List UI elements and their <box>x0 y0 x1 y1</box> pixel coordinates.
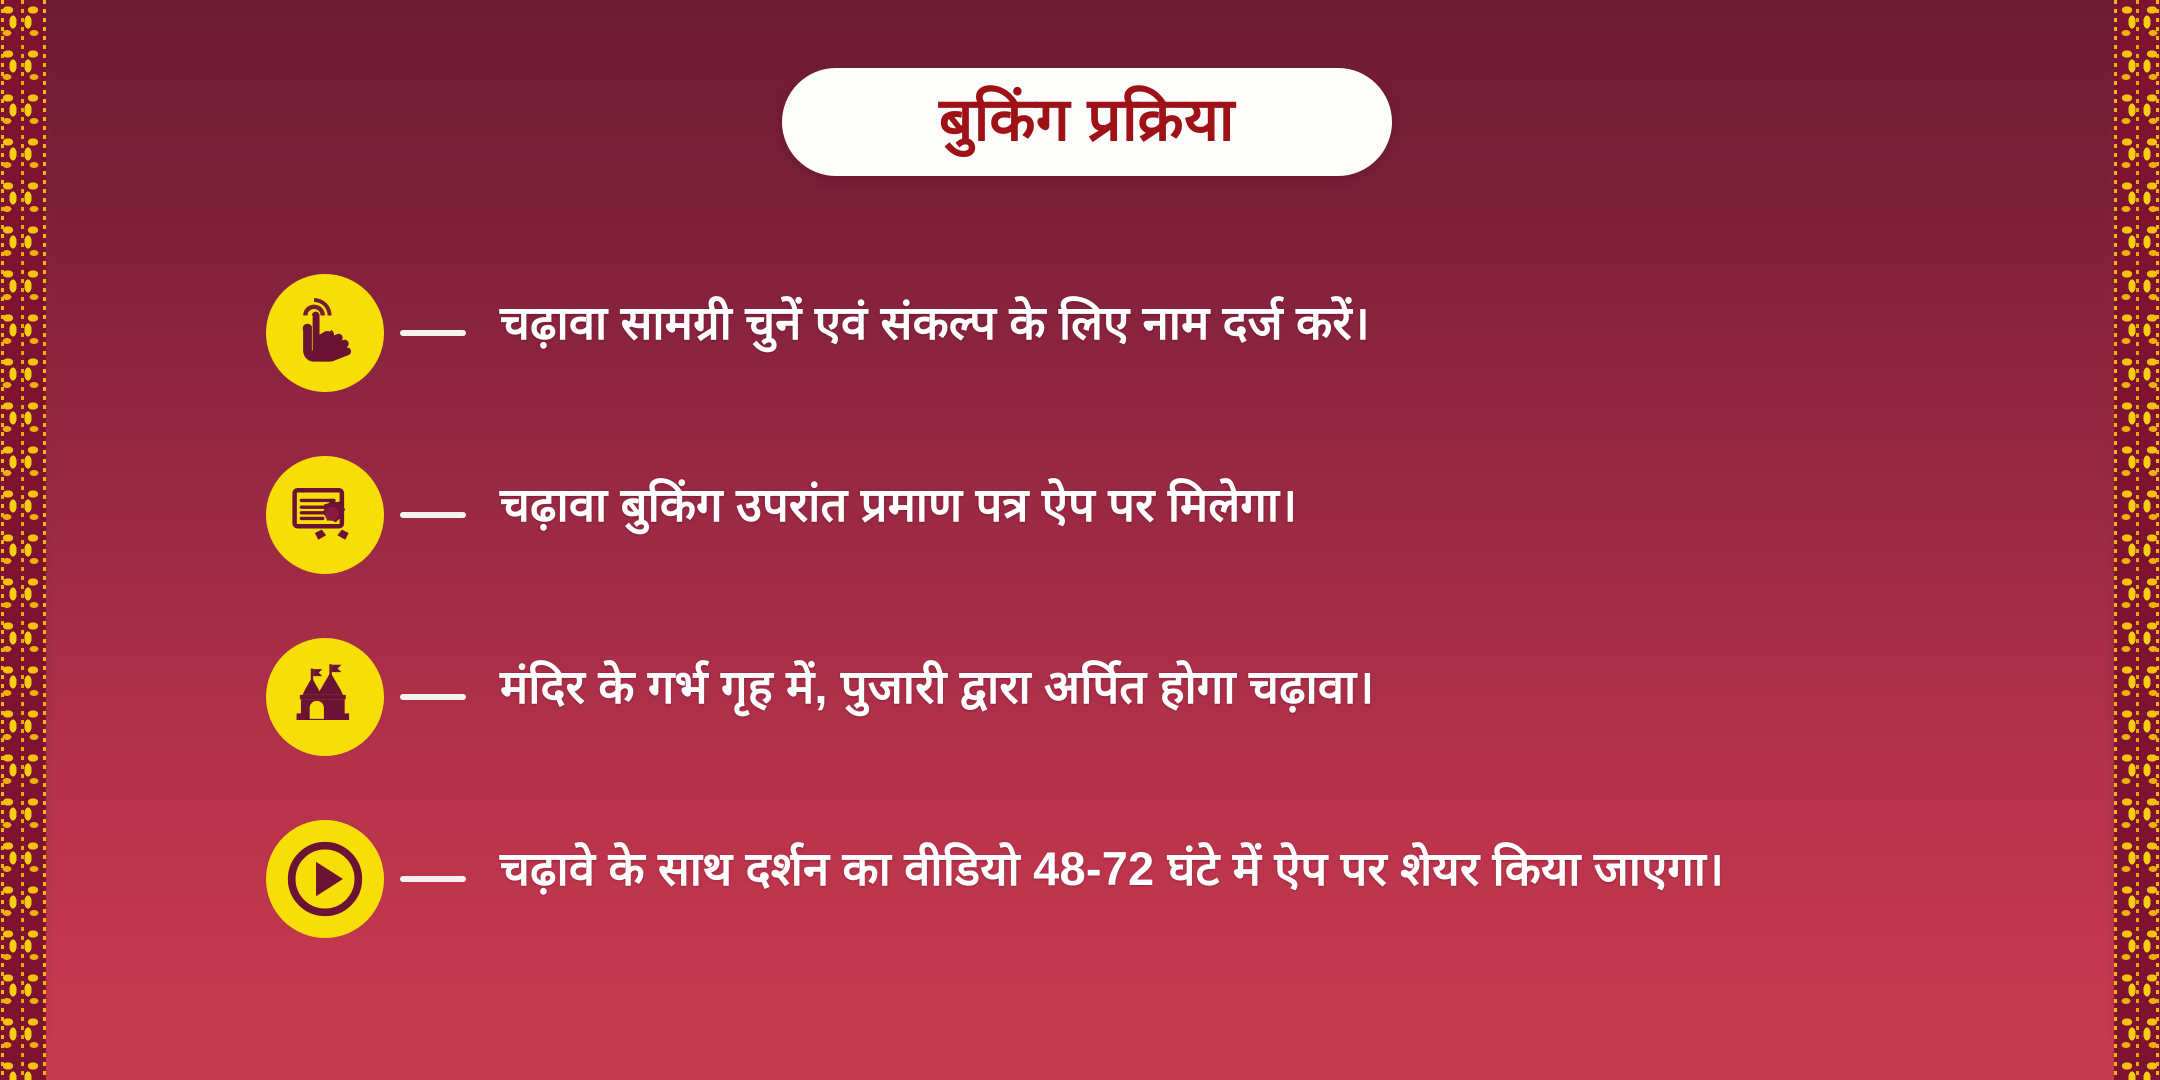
step-connector-2 <box>400 512 466 518</box>
step-item-3: मंदिर के गर्भ गृह में, पुजारी द्वारा अर्… <box>0 614 2160 796</box>
step-text-3: मंदिर के गर्भ गृह में, पुजारी द्वारा अर्… <box>500 656 2060 718</box>
step-connector-1 <box>400 330 466 336</box>
step-text-1: चढ़ावा सामग्री चुनें एवं संकल्प के लिए न… <box>500 292 2060 354</box>
booking-process-poster: बुकिंग प्रक्रिया चढ़ावा सामग्री चुनें एव… <box>0 0 2160 1080</box>
step-icon-badge-2 <box>266 456 384 574</box>
step-item-1: चढ़ावा सामग्री चुनें एवं संकल्प के लिए न… <box>0 250 2160 432</box>
play-button-icon <box>284 838 366 920</box>
step-icon-badge-3 <box>266 638 384 756</box>
step-icon-badge-1 <box>266 274 384 392</box>
tap-hand-icon <box>290 298 360 368</box>
step-connector-3 <box>400 694 466 700</box>
page-title: बुकिंग प्रक्रिया <box>939 90 1235 150</box>
step-item-2: चढ़ावा बुकिंग उपरांत प्रमाण पत्र ऐप पर म… <box>0 432 2160 614</box>
steps-list: चढ़ावा सामग्री चुनें एवं संकल्प के लिए न… <box>0 250 2160 978</box>
step-icon-badge-4 <box>266 820 384 938</box>
step-item-4: चढ़ावे के साथ दर्शन का वीडियो 48-72 घंटे… <box>0 796 2160 978</box>
step-connector-4 <box>400 876 466 882</box>
step-text-2: चढ़ावा बुकिंग उपरांत प्रमाण पत्र ऐप पर म… <box>500 474 2060 536</box>
step-text-4: चढ़ावे के साथ दर्शन का वीडियो 48-72 घंटे… <box>500 838 2060 900</box>
title-pill: बुकिंग प्रक्रिया <box>782 68 1392 176</box>
temple-icon <box>290 662 360 732</box>
certificate-icon <box>289 479 361 551</box>
